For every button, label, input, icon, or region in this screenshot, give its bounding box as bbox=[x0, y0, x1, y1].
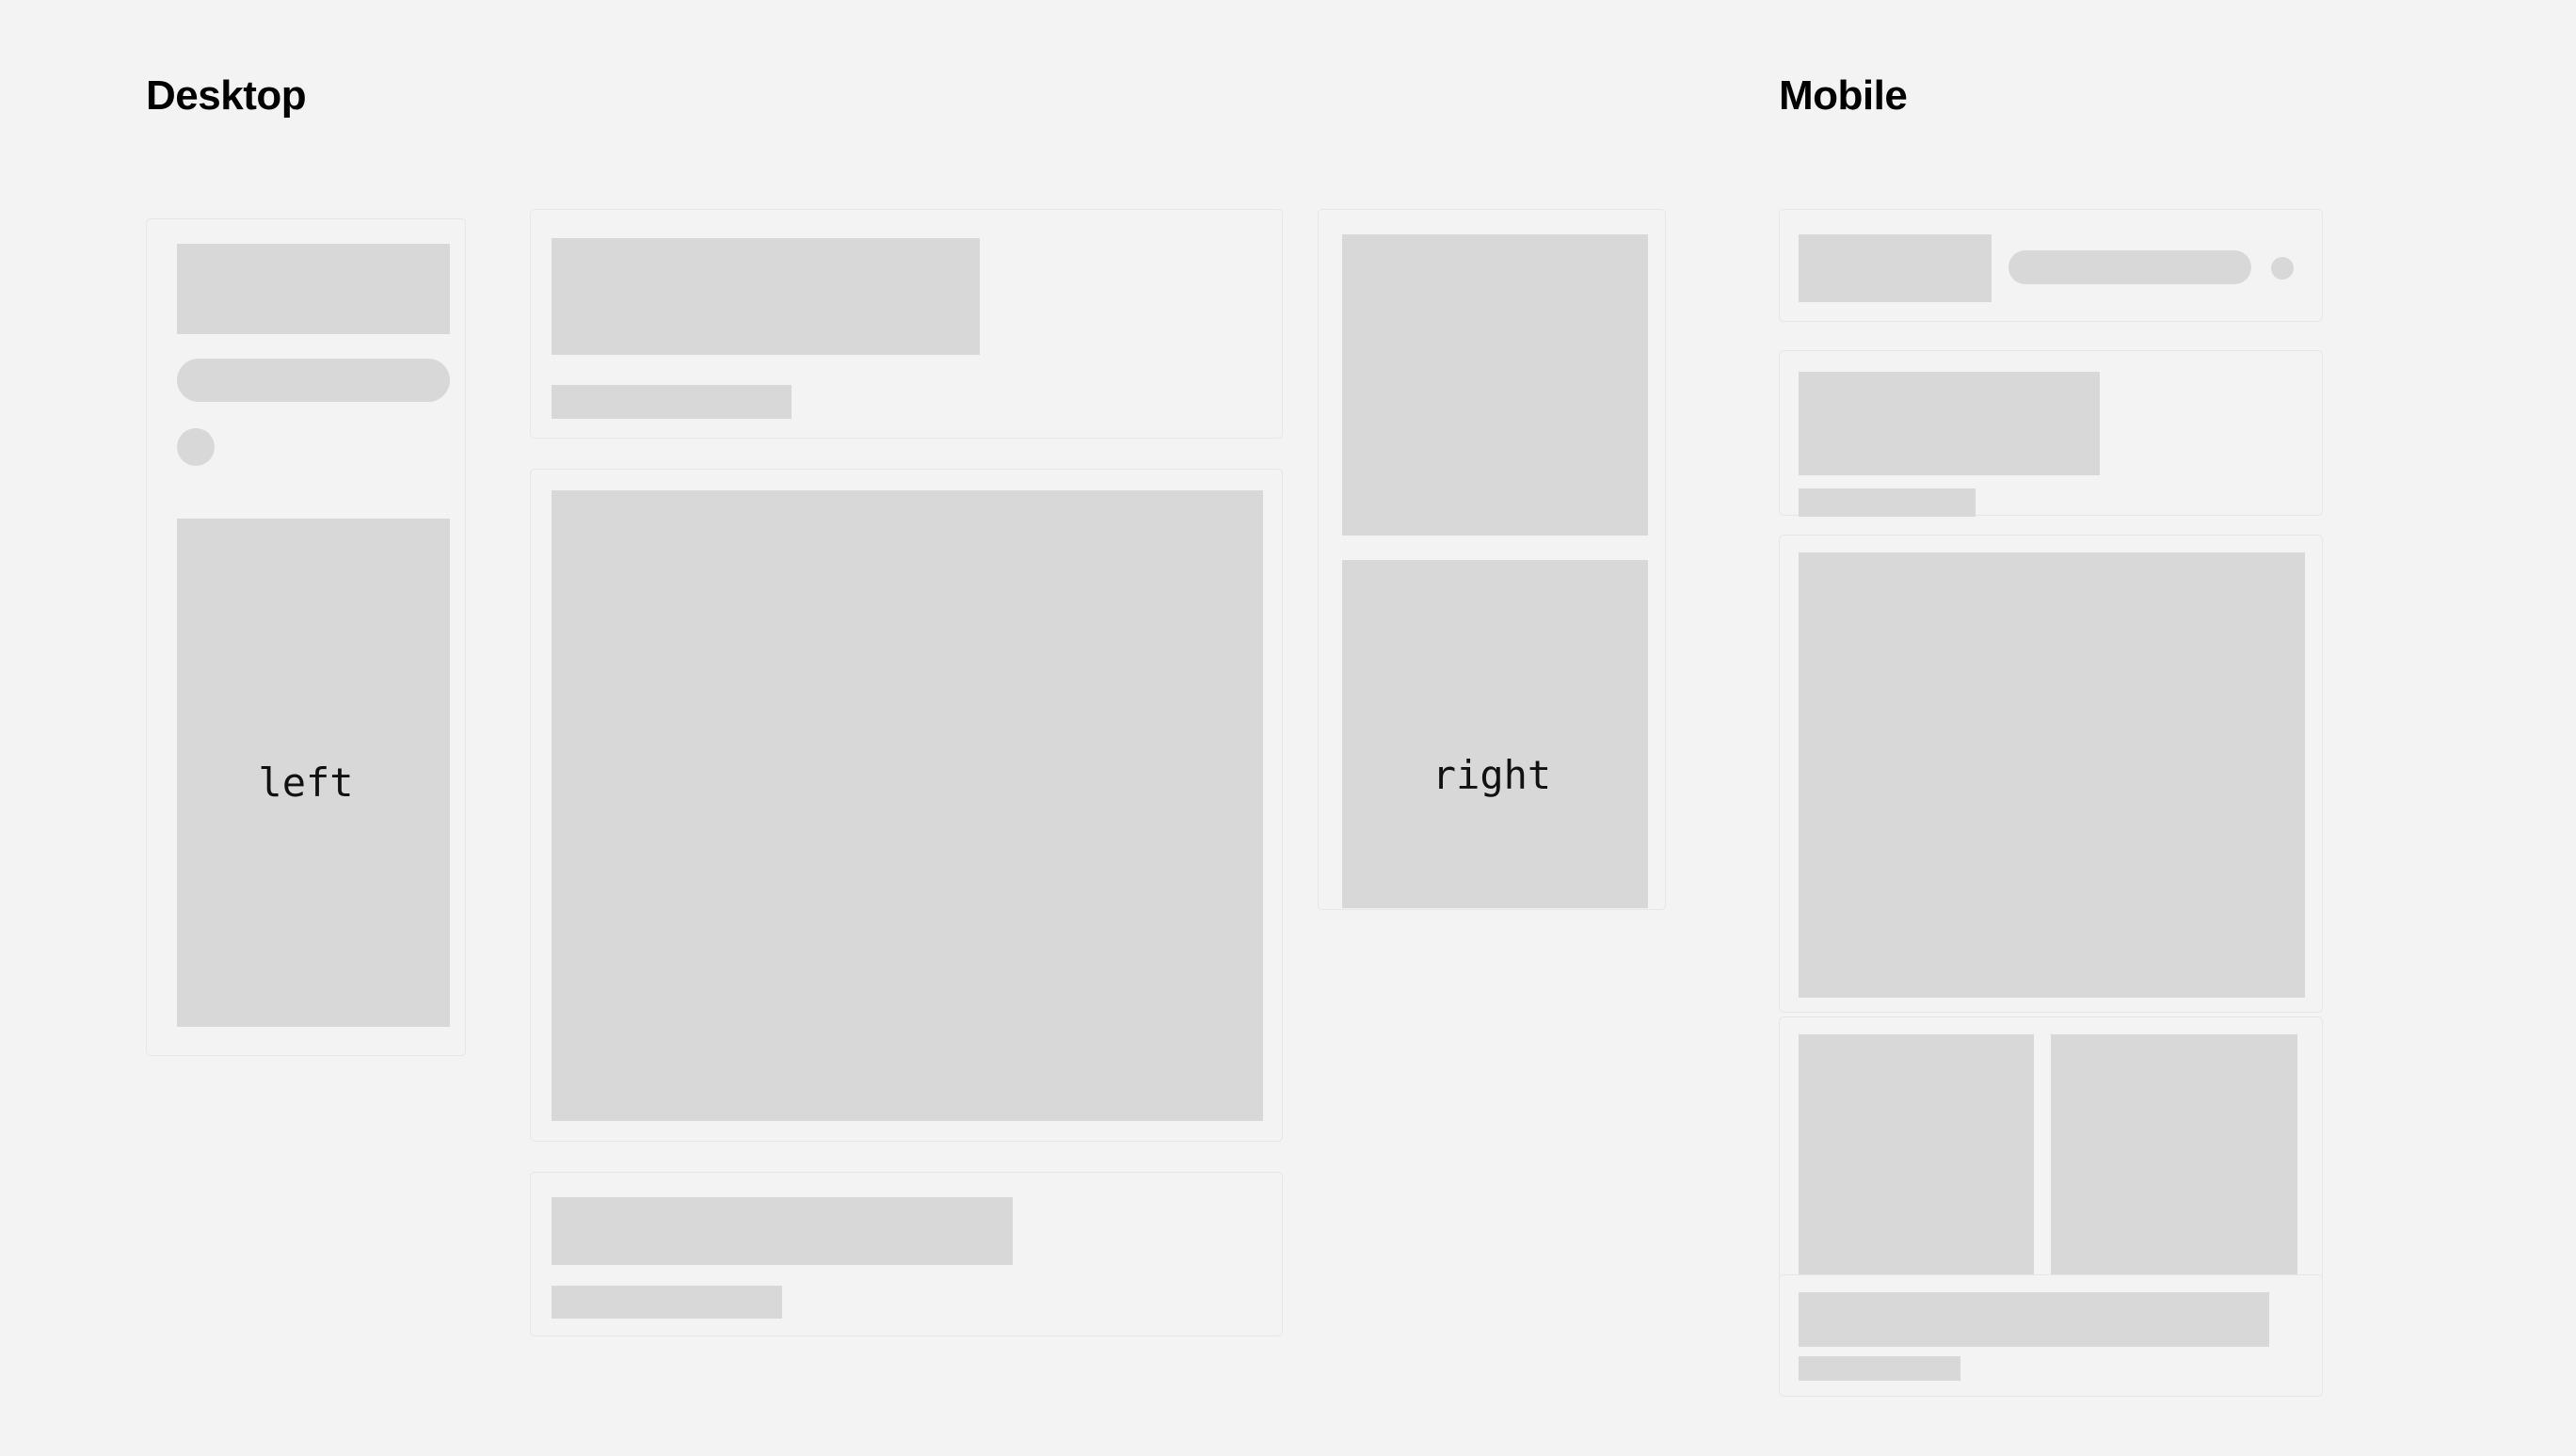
placeholder-wide-block bbox=[1799, 372, 2100, 475]
placeholder-bottom-block bbox=[1342, 560, 1648, 908]
placeholder-short-bar bbox=[552, 1286, 782, 1319]
desktop-region-right[interactable]: right bbox=[1318, 209, 1666, 910]
mobile-region-pagebody[interactable]: pageBody bbox=[1779, 535, 2323, 1013]
placeholder-avatar-circle bbox=[2271, 257, 2294, 280]
placeholder-right-block bbox=[2051, 1034, 2297, 1279]
placeholder-top-block bbox=[1342, 234, 1648, 536]
mobile-region-right[interactable]: right bbox=[1779, 1016, 2323, 1296]
placeholder-wide-block bbox=[552, 238, 980, 355]
mobile-region-footer[interactable]: footer bbox=[1779, 1274, 2323, 1397]
mobile-section-heading: Mobile bbox=[1779, 75, 1907, 117]
placeholder-header-block bbox=[177, 244, 450, 334]
placeholder-wide-block bbox=[1799, 1292, 2269, 1347]
placeholder-short-bar bbox=[1799, 1356, 1960, 1381]
placeholder-pill-bar bbox=[2008, 250, 2251, 284]
desktop-region-footer[interactable]: footer bbox=[530, 1172, 1283, 1336]
placeholder-large-block bbox=[552, 490, 1263, 1121]
placeholder-square-block bbox=[1799, 234, 1992, 302]
placeholder-avatar-circle bbox=[177, 428, 215, 466]
placeholder-wide-block bbox=[552, 1197, 1013, 1265]
placeholder-pill-bar bbox=[177, 359, 450, 402]
desktop-region-left[interactable]: left bbox=[146, 218, 466, 1056]
desktop-section-heading: Desktop bbox=[146, 75, 306, 117]
placeholder-left-block bbox=[1799, 1034, 2034, 1279]
placeholder-large-block bbox=[1799, 552, 2305, 998]
placeholder-short-bar bbox=[552, 385, 792, 419]
desktop-region-beforebody[interactable]: beforeBody bbox=[530, 209, 1283, 439]
placeholder-short-bar bbox=[1799, 488, 1976, 517]
layout-preview-canvas: Desktop left beforeBody pageBody right f… bbox=[0, 0, 2576, 1456]
desktop-region-pagebody[interactable]: pageBody bbox=[530, 469, 1283, 1142]
placeholder-content-block bbox=[177, 519, 450, 1027]
mobile-region-left[interactable]: left bbox=[1779, 209, 2323, 322]
mobile-region-beforebody[interactable]: beforeBody bbox=[1779, 350, 2323, 516]
